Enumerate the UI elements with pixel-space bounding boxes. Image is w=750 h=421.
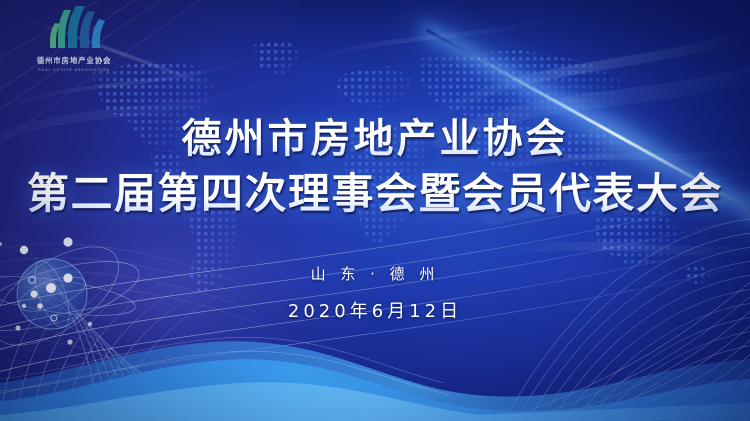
conference-banner: 德州市房地产业协会 REAL ESTATE ASSOCIATION 德州市房地产…: [0, 0, 750, 421]
subtitle-location: 山 东 · 德 州: [0, 263, 750, 284]
banner-title-group: 德州市房地产业协会 第二届第四次理事会暨会员代表大会: [0, 116, 750, 219]
title-line-2: 第二届第四次理事会暨会员代表大会: [0, 169, 750, 219]
subtitle-date: 2020年6月12日: [0, 297, 750, 323]
molecule-sphere-graphic: [0, 236, 144, 356]
association-logo: 德州市房地产业协会 REAL ESTATE ASSOCIATION: [18, 6, 130, 78]
title-line-1: 德州市房地产业协会: [0, 116, 750, 163]
logo-mark-icon: [38, 6, 110, 52]
logo-name-cn: 德州市房地产业协会: [18, 55, 130, 66]
logo-name-en: REAL ESTATE ASSOCIATION: [18, 68, 130, 72]
